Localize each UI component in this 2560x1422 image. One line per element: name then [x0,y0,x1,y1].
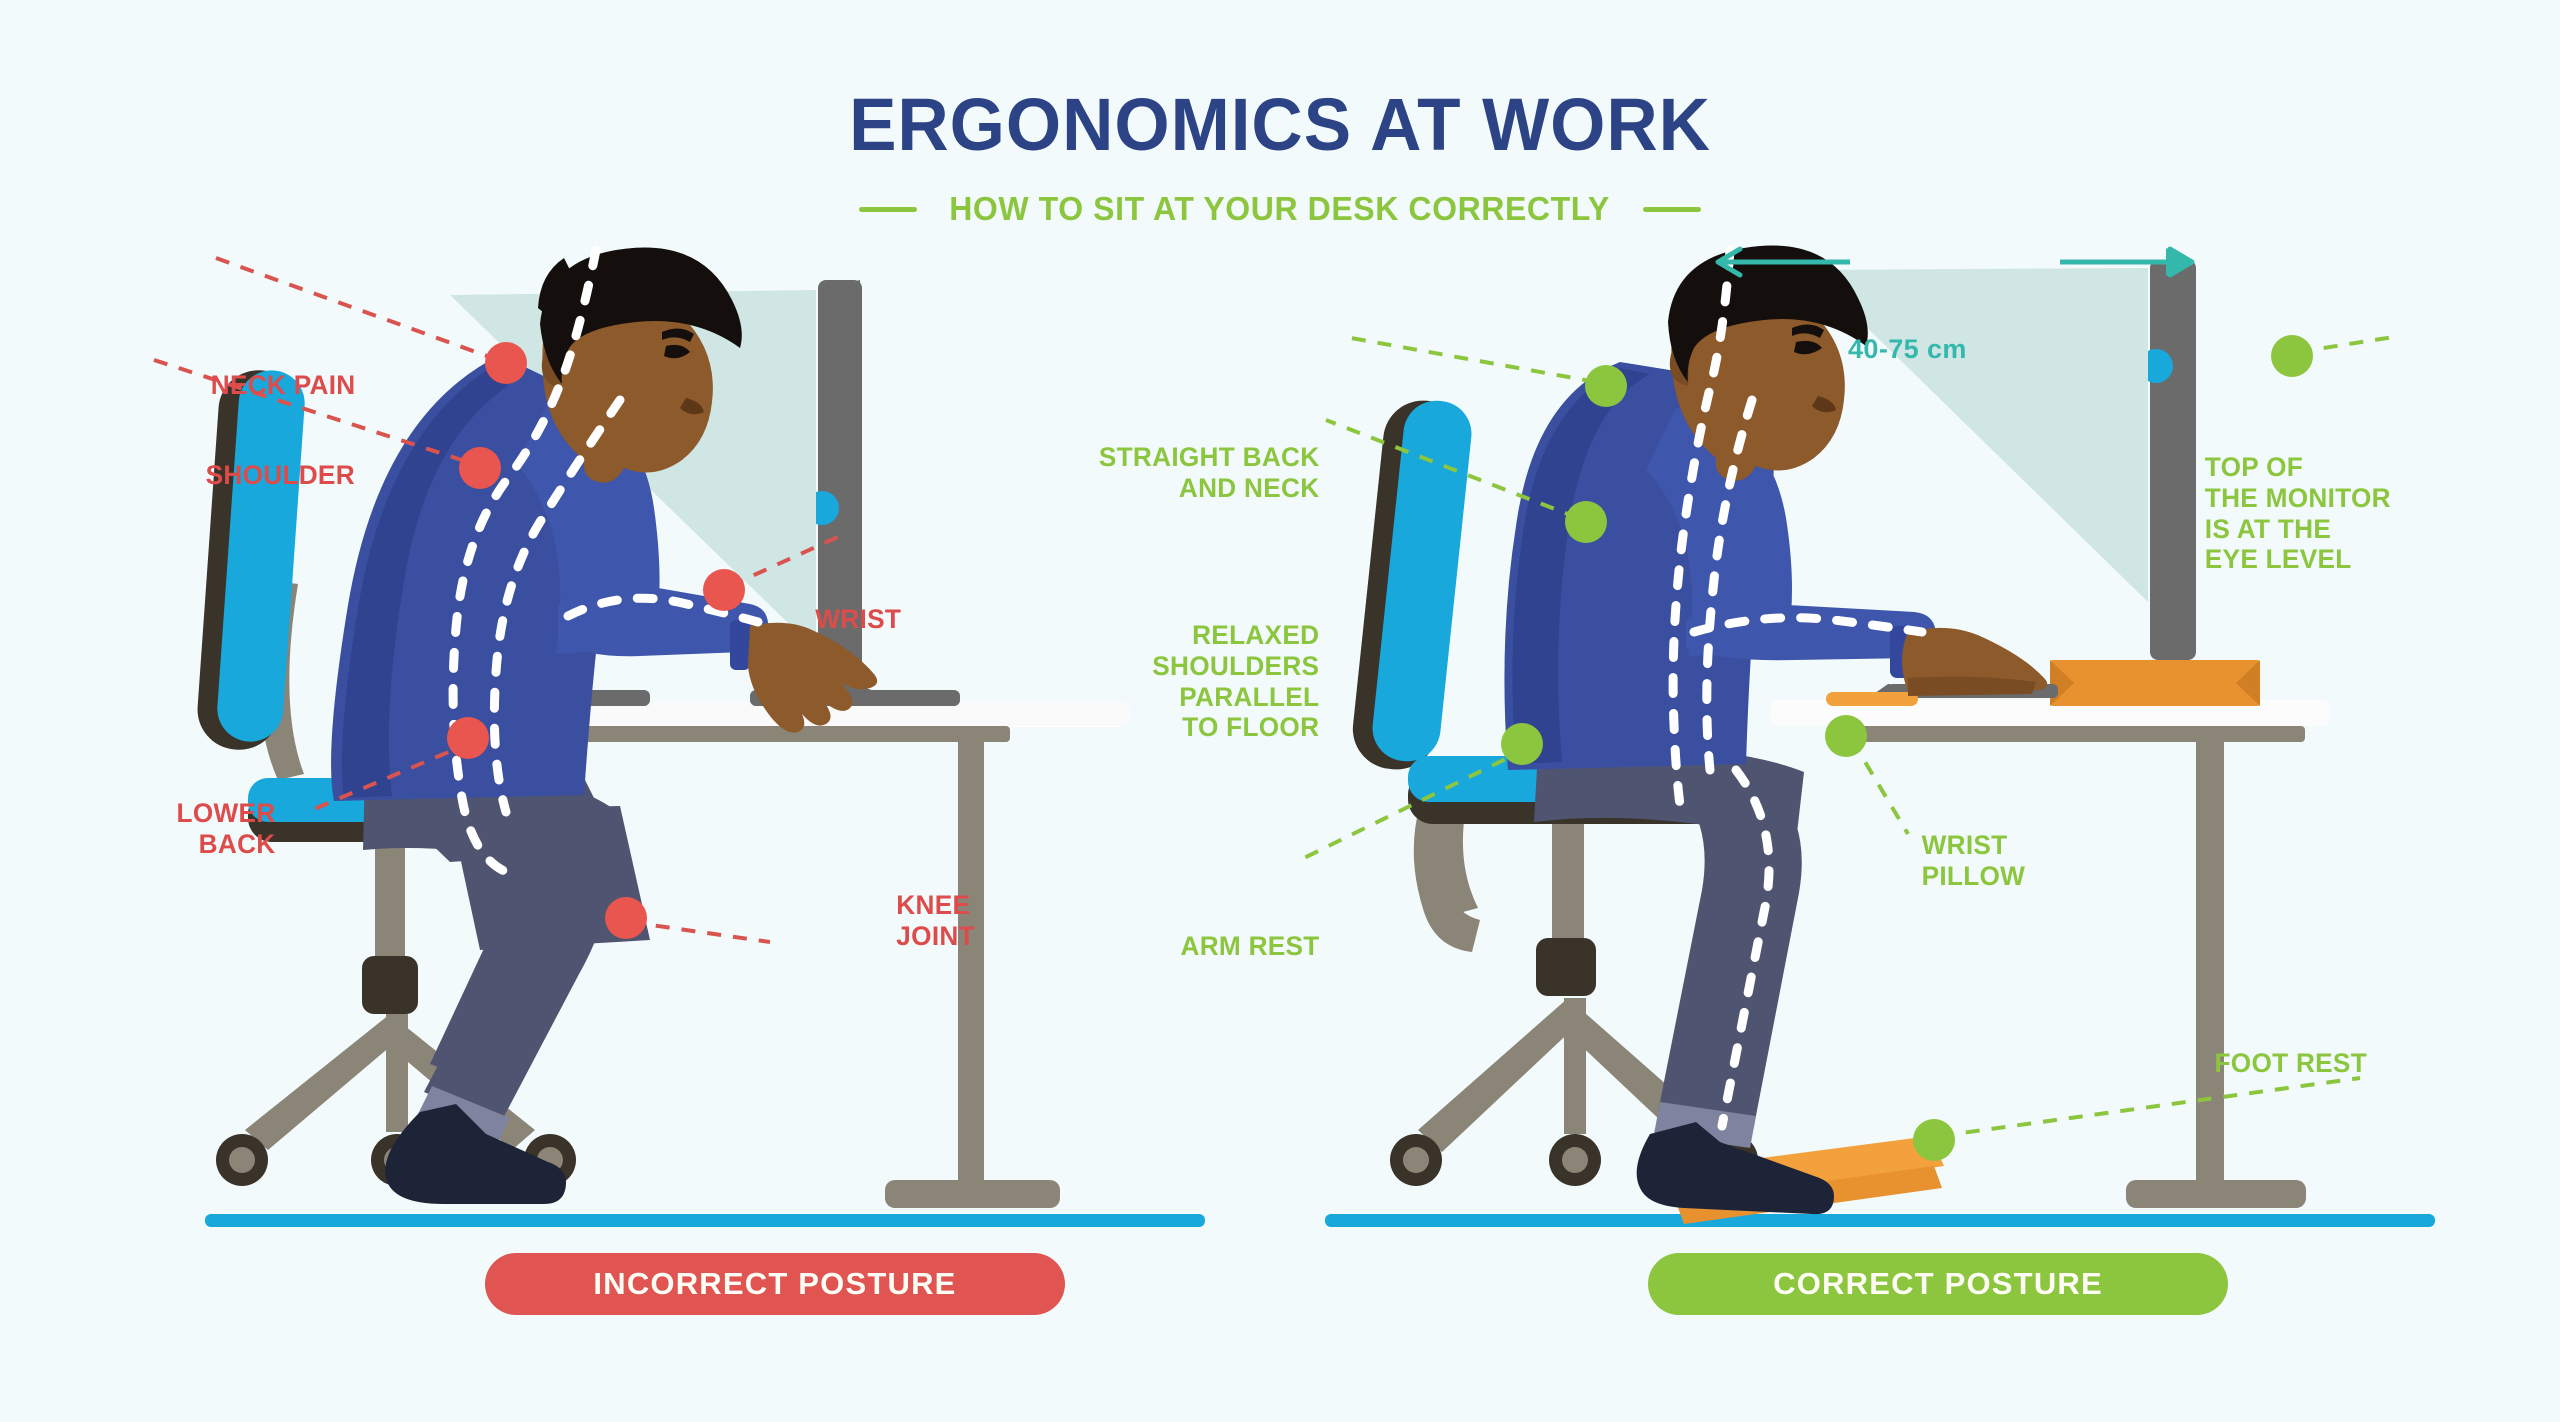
hotspot-foot-rest [1913,1119,1955,1161]
hotspot-straight-back [1585,365,1627,407]
hotspot-shoulder [459,447,501,489]
hotspot-arm-rest [1501,723,1543,765]
callout-monitor-eye-level: TOP OF THE MONITOR IS AT THE EYE LEVEL [2205,452,2515,575]
callout-straight-back-and-neck: STRAIGHT BACK AND NECK [1025,442,1320,504]
callout-neck-pain: NECK PAIN [65,370,356,401]
callout-wrist: WRIST [815,604,1028,635]
hotspot-neck-pain [485,342,527,384]
correct-posture-illustration [1290,250,2470,1250]
desk [1770,700,2330,1208]
subtitle-dash-left [859,207,917,212]
floor-line [1325,1214,2435,1227]
callout-wrist-pillow: WRIST PILLOW [1922,830,2155,892]
correct-posture-badge[interactable]: CORRECT POSTURE [1648,1253,2228,1315]
callout-lower-back: LOWER BACK [0,798,276,860]
subtitle-row: HOW TO SIT AT YOUR DESK CORRECTLY [0,190,2560,228]
monitor-riser [2050,660,2260,706]
hotspot-monitor-eye-level [2271,335,2313,377]
hotspot-wrist-pillow [1825,715,1867,757]
hotspot-knee-joint [605,897,647,939]
floor-line [205,1214,1205,1227]
callout-relaxed-shoulders: RELAXED SHOULDERS PARALLEL TO FLOOR [1015,620,1320,743]
callout-arm-rest: ARM REST [1034,931,1319,962]
hotspot-relaxed-shoulders [1565,501,1607,543]
hotspot-lower-back [447,717,489,759]
callout-foot-rest: FOOT REST [2215,1048,2506,1079]
incorrect-posture-badge[interactable]: INCORRECT POSTURE [485,1253,1065,1315]
page-subtitle: HOW TO SIT AT YOUR DESK CORRECTLY [950,190,1611,228]
wrist-pillow-pad [1826,692,1918,706]
page-title: ERGONOMICS AT WORK [51,88,2509,162]
subtitle-dash-right [1643,207,1701,212]
hotspot-wrist [703,569,745,611]
callout-shoulder: SHOULDER [25,460,355,491]
infographic-canvas: ERGONOMICS AT WORK HOW TO SIT AT YOUR DE… [0,0,2560,1422]
monitor-distance-label: 40-75 cm [1848,334,1967,365]
